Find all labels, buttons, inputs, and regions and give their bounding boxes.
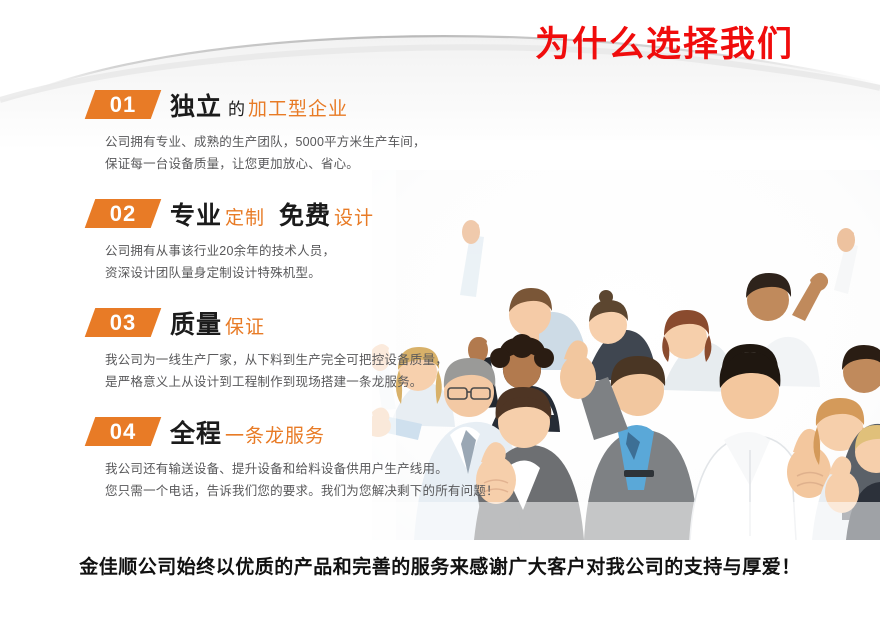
feature-title: 质量 保证 [170, 305, 265, 341]
feature-body-line: 我公司还有输送设备、提升设备和给料设备供用户生产线用。 [105, 458, 470, 480]
feature-item: 03 质量 保证 我公司为一线生产厂家，从下料到生产完全可把控设备质量， 是严格… [0, 306, 470, 393]
feature-body-line: 保证每一台设备质量，让您更加放心、省心。 [105, 153, 470, 175]
feature-body-line: 公司拥有从事该行业20余年的技术人员， [105, 240, 470, 262]
feature-heading: 01 独立 的 加工型企业 [0, 88, 470, 122]
feature-body: 我公司为一线生产厂家，从下料到生产完全可把控设备质量， 是严格意义上从设计到工程… [0, 349, 470, 393]
feature-title-plain: 的 [228, 95, 245, 120]
feature-title-accent: 一条龙服务 [225, 421, 325, 448]
feature-number: 03 [90, 308, 156, 337]
feature-title-main-2: 免费 [279, 196, 331, 232]
page-title: 为什么选择我们 [535, 24, 794, 66]
feature-title: 全程 一条龙服务 [170, 414, 325, 450]
feature-heading: 02 专业 定制 免费 设计 [0, 197, 470, 231]
feature-body-line: 资深设计团队量身定制设计特殊机型。 [105, 262, 470, 284]
feature-item: 02 专业 定制 免费 设计 公司拥有从事该行业20余年的技术人员， 资深设计团… [0, 197, 470, 284]
feature-title-accent: 定制 [225, 203, 265, 230]
feature-title-accent: 加工型企业 [248, 94, 348, 121]
feature-title-main: 全程 [170, 414, 222, 450]
feature-number: 01 [90, 90, 156, 119]
feature-body: 公司拥有专业、成熟的生产团队，5000平方米生产车间， 保证每一台设备质量，让您… [0, 131, 470, 175]
footer-slogan: 金佳顺公司始终以优质的产品和完善的服务来感谢广大客户对我公司的支持与厚爱！ [0, 552, 880, 579]
feature-title-accent-2: 设计 [334, 203, 374, 230]
feature-item: 01 独立 的 加工型企业 公司拥有专业、成熟的生产团队，5000平方米生产车间… [0, 88, 470, 175]
feature-body: 我公司还有输送设备、提升设备和给料设备供用户生产线用。 您只需一个电话，告诉我们… [0, 458, 470, 502]
feature-heading: 03 质量 保证 [0, 306, 470, 340]
feature-item: 04 全程 一条龙服务 我公司还有输送设备、提升设备和给料设备供用户生产线用。 … [0, 415, 470, 502]
feature-body-line: 公司拥有专业、成熟的生产团队，5000平方米生产车间， [105, 131, 470, 153]
feature-title: 专业 定制 免费 设计 [170, 196, 374, 232]
feature-body-line: 您只需一个电话，告诉我们您的要求。我们为您解决剩下的所有问题！ [105, 480, 470, 502]
feature-title: 独立 的 加工型企业 [170, 87, 348, 123]
feature-list: 01 独立 的 加工型企业 公司拥有专业、成熟的生产团队，5000平方米生产车间… [0, 88, 470, 524]
feature-heading: 04 全程 一条龙服务 [0, 415, 470, 449]
promo-banner: 为什么选择我们 [0, 0, 880, 626]
feature-title-accent: 保证 [225, 312, 265, 339]
feature-number: 02 [90, 199, 156, 228]
feature-title-main: 专业 [170, 196, 222, 232]
feature-body-line: 是严格意义上从设计到工程制作到现场搭建一条龙服务。 [105, 371, 470, 393]
page-title-text: 为什么选择我们 [535, 25, 794, 64]
feature-title-main: 质量 [170, 305, 222, 341]
feature-number: 04 [90, 417, 156, 446]
feature-title-main: 独立 [170, 87, 222, 123]
footer-slogan-text: 金佳顺公司始终以优质的产品和完善的服务来感谢广大客户对我公司的支持与厚爱！ [79, 557, 801, 578]
feature-body-line: 我公司为一线生产厂家，从下料到生产完全可把控设备质量， [105, 349, 470, 371]
feature-body: 公司拥有从事该行业20余年的技术人员， 资深设计团队量身定制设计特殊机型。 [0, 240, 470, 284]
